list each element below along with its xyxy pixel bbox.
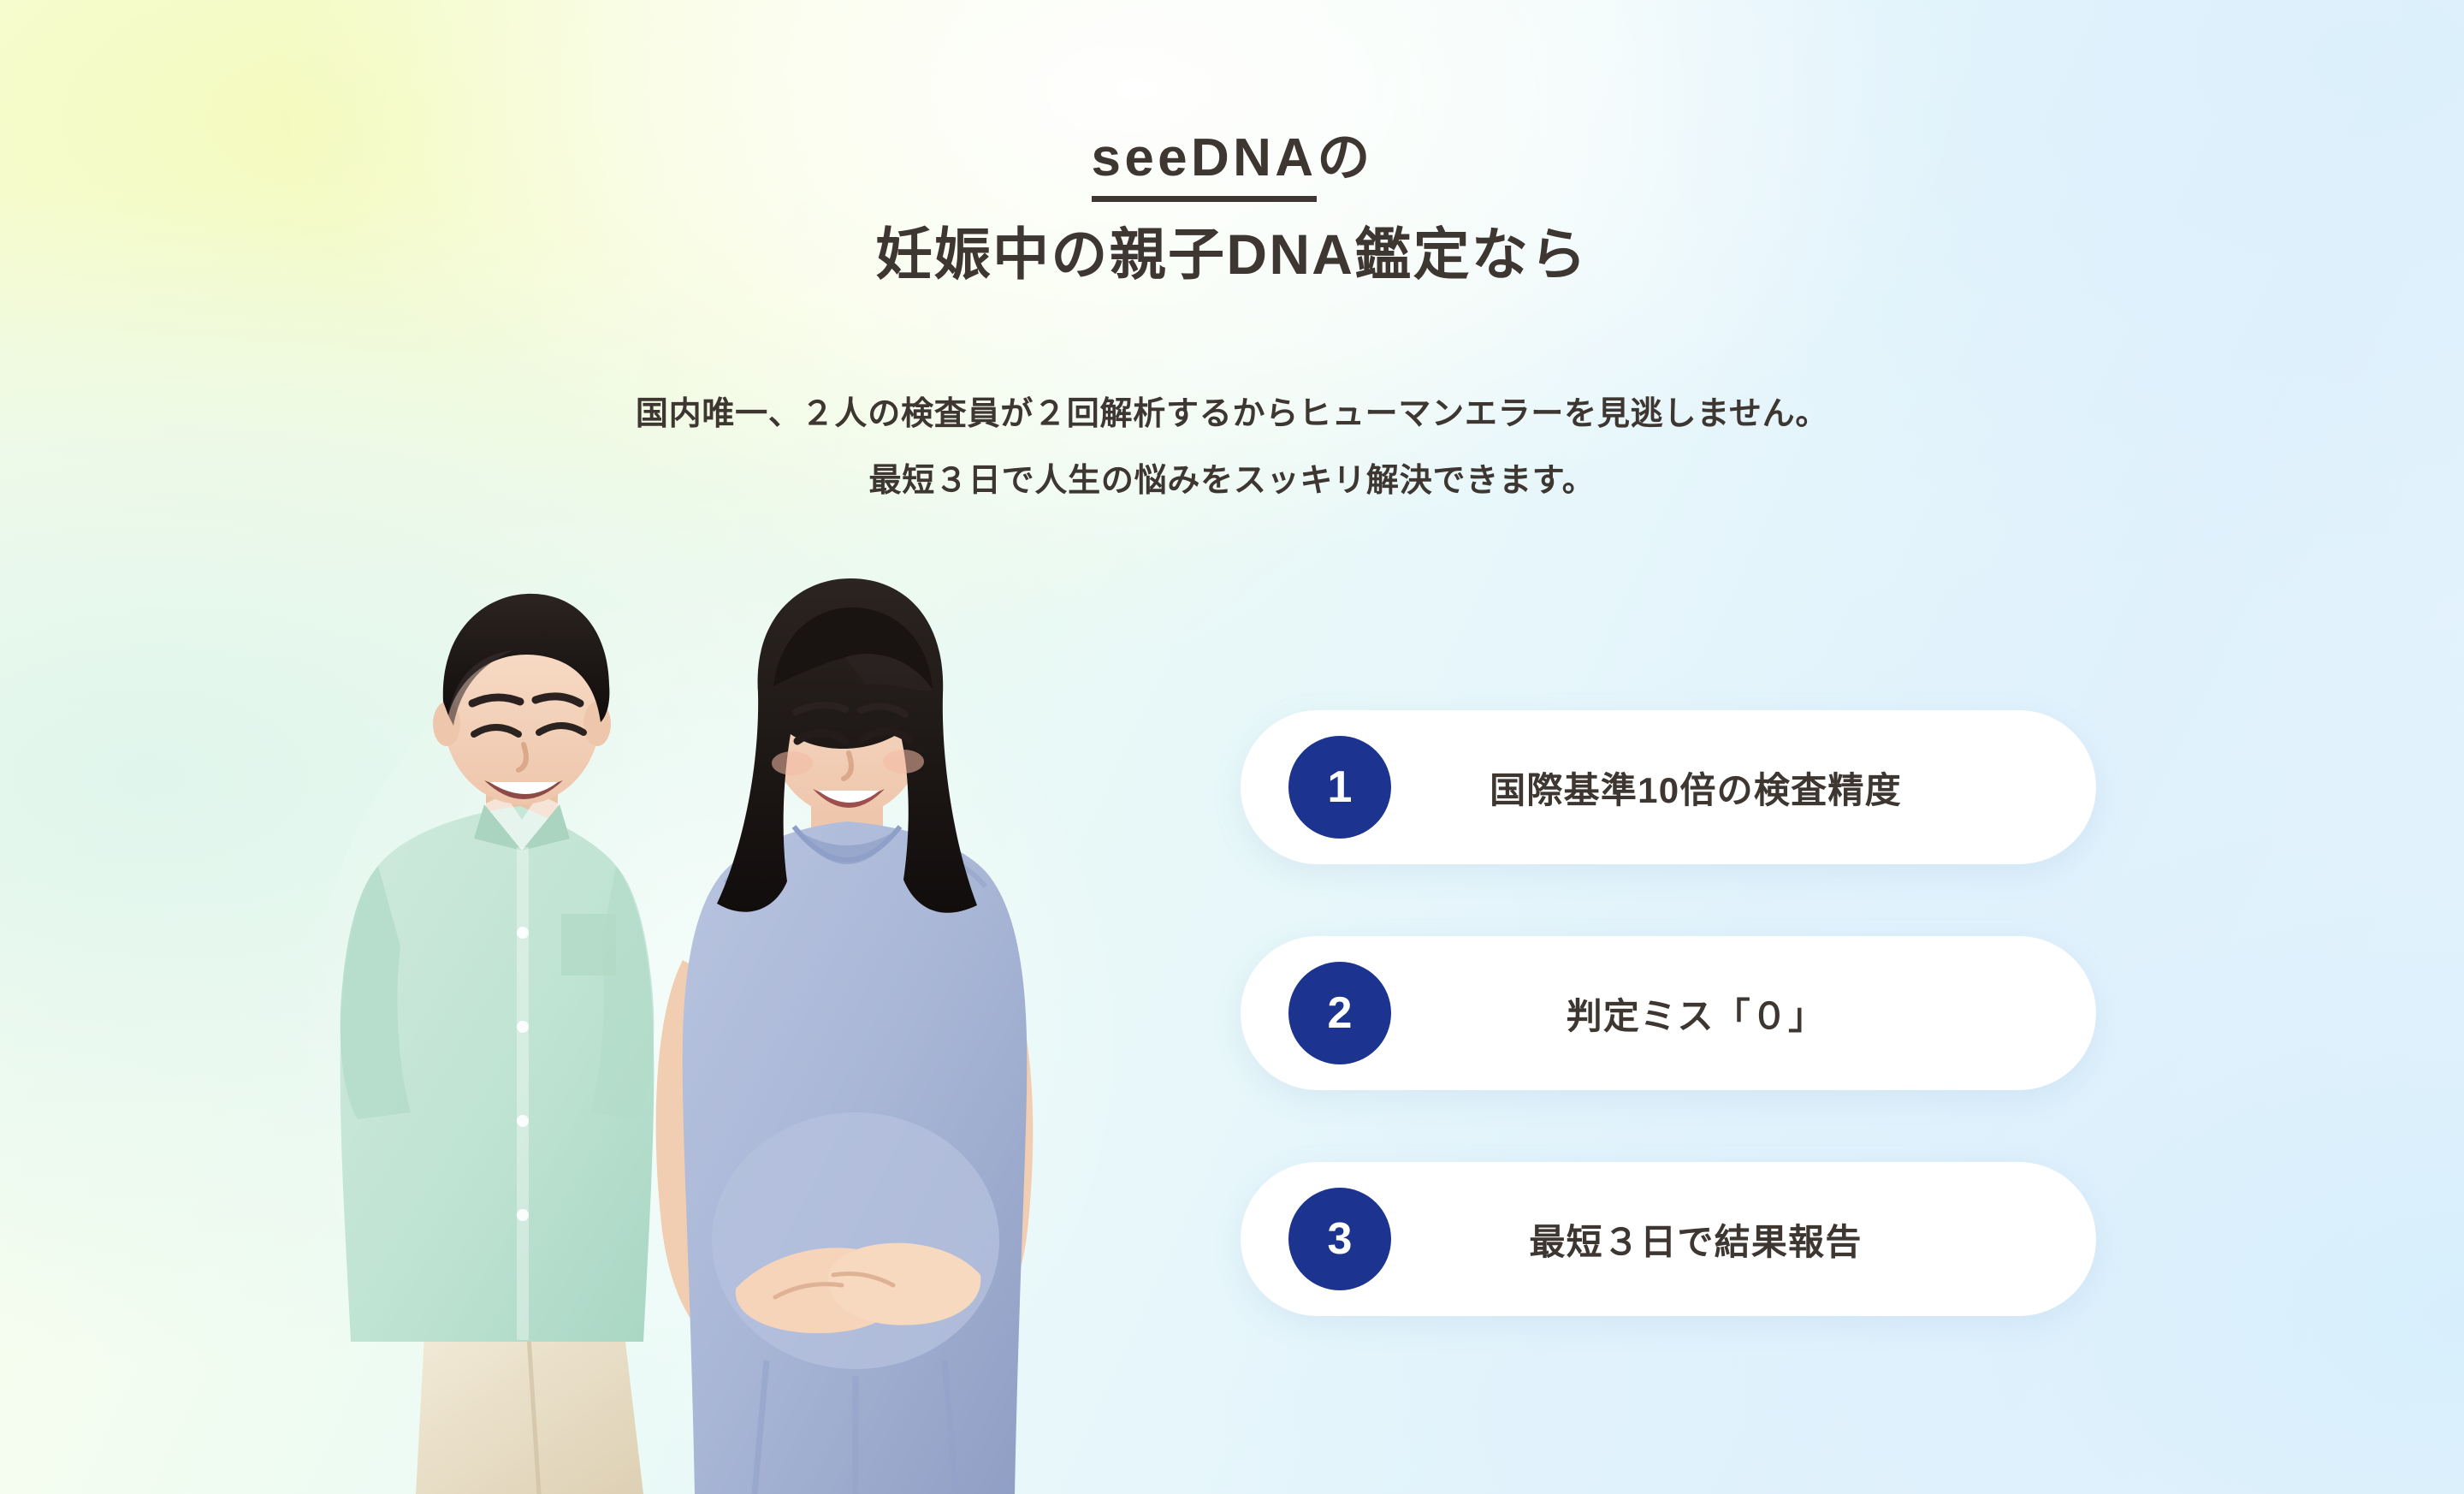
feature-pill-2[interactable]: 2 判定ミス「０」 bbox=[1241, 936, 2096, 1090]
headline-block: seeDNAの 妊娠中の親子DNA鑑定なら bbox=[0, 128, 2464, 287]
brand-suffix: の bbox=[1317, 128, 1372, 187]
headline-line-1: seeDNAの bbox=[0, 128, 2464, 187]
feature-pill-list: 1 国際基準10倍の検査精度 2 判定ミス「０」 3 最短３日で結果報告 bbox=[1241, 710, 2096, 1316]
subcopy-line-1: 国内唯一、２人の検査員が２回解析するからヒューマンエラーを見逃しません。 bbox=[0, 398, 2464, 430]
headline-line-2: 妊娠中の親子DNA鑑定なら bbox=[0, 223, 2464, 287]
feature-pill-1[interactable]: 1 国際基準10倍の検査精度 bbox=[1241, 710, 2096, 864]
feature-pill-3[interactable]: 3 最短３日で結果報告 bbox=[1241, 1162, 2096, 1316]
man-figure bbox=[341, 594, 654, 1494]
couple-photo-illustration bbox=[257, 565, 1164, 1494]
feature-label-3: 最短３日で結果報告 bbox=[1391, 1213, 2096, 1266]
feature-number-badge-1: 1 bbox=[1288, 736, 1391, 839]
subcopy-block: 国内唯一、２人の検査員が２回解析するからヒューマンエラーを見逃しません。 最短３… bbox=[0, 398, 2464, 497]
brand-name: seeDNA bbox=[1092, 128, 1318, 202]
feature-number-badge-3: 3 bbox=[1288, 1188, 1391, 1290]
couple-photo bbox=[257, 565, 1164, 1494]
feature-label-2: 判定ミス「０」 bbox=[1391, 987, 2096, 1040]
hero-section: seeDNAの 妊娠中の親子DNA鑑定なら 国内唯一、２人の検査員が２回解析する… bbox=[0, 0, 2464, 1494]
feature-label-1: 国際基準10倍の検査精度 bbox=[1391, 762, 2096, 814]
subcopy-line-2: 最短３日で人生の悩みをスッキリ解決できます。 bbox=[0, 465, 2464, 497]
feature-number-badge-2: 2 bbox=[1288, 962, 1391, 1064]
